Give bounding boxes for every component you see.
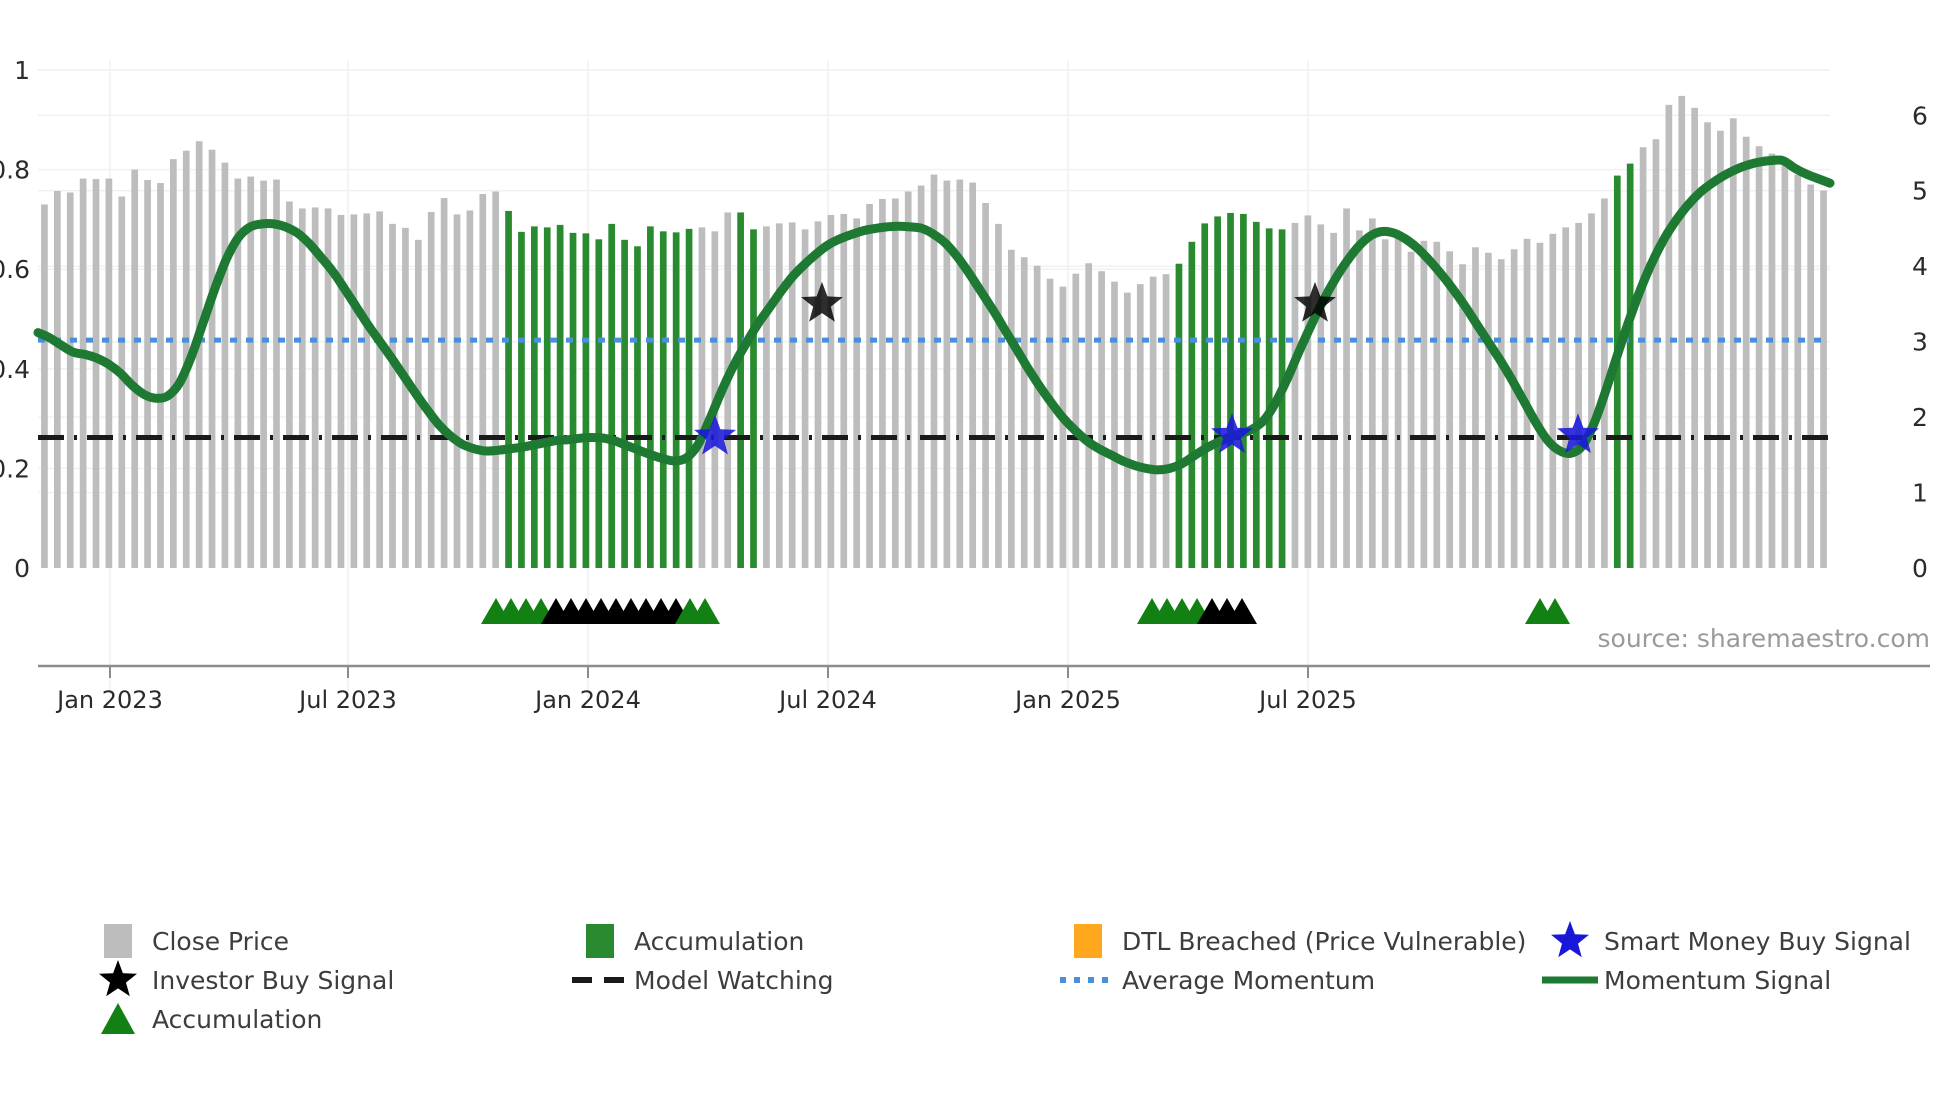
close-price-bar (1292, 223, 1299, 568)
close-price-bar (41, 204, 48, 568)
close-price-bar (402, 228, 409, 568)
x-axis-label: Jan 2025 (1013, 686, 1121, 714)
close-price-bar (1730, 118, 1737, 568)
accumulation-bar (1627, 164, 1634, 568)
chart-root: Jan 2023Jul 2023Jan 2024Jul 2024Jan 2025… (0, 0, 1960, 1102)
close-price-bar (1743, 137, 1750, 568)
legend-swatch-square (104, 924, 132, 958)
right-axis-label: 2 (1912, 403, 1928, 432)
accumulation-bar (557, 225, 564, 568)
legend-item-label: Average Momentum (1122, 966, 1375, 995)
close-price-bar (351, 214, 358, 568)
legend: Close PriceAccumulationDTL Breached (Pri… (99, 921, 1911, 1034)
bars-layer (41, 96, 1827, 568)
close-price-bar (892, 198, 899, 568)
close-price-bar (1472, 247, 1479, 568)
accumulation-bar (518, 232, 525, 568)
accumulation-bar (660, 231, 667, 568)
close-price-bar (1356, 230, 1363, 568)
legend-item-label: Accumulation (152, 1005, 322, 1034)
close-price-bar (144, 180, 151, 568)
close-price-bar (338, 215, 345, 568)
x-axis-label: Jul 2024 (777, 686, 877, 714)
accumulation-bar (621, 240, 628, 568)
close-price-bar (376, 211, 383, 568)
close-price-bar (492, 192, 499, 568)
legend-smart-money[interactable]: Smart Money Buy Signal (1551, 921, 1911, 957)
close-price-bar (1408, 252, 1415, 568)
close-price-bar (969, 183, 976, 568)
close-price-bar (260, 181, 267, 568)
momentum-accumulation-chart: Jan 2023Jul 2023Jan 2024Jul 2024Jan 2025… (0, 0, 1960, 1102)
close-price-bar (1395, 233, 1402, 568)
close-price-bar (1317, 224, 1324, 568)
close-price-bar (1137, 284, 1144, 568)
close-price-bar (247, 177, 254, 568)
close-price-bar (299, 208, 306, 568)
close-price-bar (918, 186, 925, 568)
legend-close-price[interactable]: Close Price (104, 924, 289, 958)
accumulation-bar (595, 239, 602, 568)
close-price-bar (879, 199, 886, 568)
close-price-bar (157, 183, 164, 568)
source-label: source: sharemaestro.com (1598, 624, 1931, 653)
close-price-bar (67, 193, 74, 568)
left-axis-label: 1 (14, 56, 30, 85)
left-axis-label: 0.2 (0, 454, 30, 483)
legend-accumulation-triangle[interactable]: Accumulation (101, 1003, 322, 1034)
close-price-bar (1562, 227, 1569, 568)
close-price-bar (1369, 218, 1376, 568)
close-price-bar (286, 201, 293, 568)
close-price-bar (1072, 274, 1079, 568)
close-price-bar (995, 224, 1002, 568)
legend-swatch-square (1074, 924, 1102, 958)
close-price-bar (828, 215, 835, 568)
close-price-bar (1549, 234, 1556, 568)
accumulation-bar (583, 233, 590, 568)
accumulation-bar (608, 224, 615, 568)
close-price-bar (1794, 175, 1801, 568)
close-price-bar (699, 227, 706, 568)
close-price-bar (1111, 282, 1118, 568)
close-price-bar (1124, 293, 1131, 568)
accumulation-bar (570, 233, 577, 568)
close-price-bar (131, 170, 138, 568)
left-axis-label: 0.8 (0, 156, 30, 185)
close-price-bar (1575, 223, 1582, 568)
close-price-bar (454, 214, 461, 568)
close-price-bar (905, 192, 912, 568)
accumulation-bar (1201, 223, 1208, 568)
close-price-bar (467, 210, 474, 568)
close-price-bar (1653, 139, 1660, 568)
close-price-bar (1588, 213, 1595, 568)
close-price-bar (1640, 147, 1647, 568)
legend-item-label: DTL Breached (Price Vulnerable) (1122, 927, 1526, 956)
right-axis-label: 1 (1912, 479, 1928, 508)
close-price-bar (1060, 287, 1067, 568)
x-axis-label: Jul 2025 (1257, 686, 1357, 714)
close-price-bar (1820, 191, 1827, 568)
close-price-bar (1756, 146, 1763, 568)
close-price-bar (1678, 96, 1685, 568)
close-price-bar (1382, 239, 1389, 568)
close-price-bar (853, 218, 860, 568)
close-price-bar (763, 226, 770, 568)
legend-item-label: Smart Money Buy Signal (1604, 927, 1911, 956)
accumulation-bar (750, 229, 757, 568)
close-price-bar (1433, 242, 1440, 568)
close-price-bar (1446, 251, 1453, 568)
legend-swatch-star (1551, 921, 1589, 957)
close-price-bar (956, 180, 963, 568)
close-price-bar (802, 229, 809, 568)
close-price-bar (840, 214, 847, 568)
left-axis-label: 0.4 (0, 355, 30, 384)
legend-swatch-triangle (101, 1003, 135, 1034)
accumulation-bar (686, 229, 693, 568)
close-price-bar (1666, 105, 1673, 568)
legend-item-label: Momentum Signal (1604, 966, 1831, 995)
close-price-bar (866, 204, 873, 568)
accumulation-bar (647, 226, 654, 568)
legend-model-watching[interactable]: Model Watching (572, 966, 834, 995)
close-price-bar (389, 224, 396, 568)
close-price-bar (1717, 131, 1724, 568)
right-axis-label: 0 (1912, 554, 1928, 583)
right-axis-label: 6 (1912, 101, 1928, 130)
close-price-bar (982, 203, 989, 568)
close-price-bar (479, 194, 486, 568)
right-axis-label: 4 (1912, 252, 1928, 281)
legend-item-label: Model Watching (634, 966, 834, 995)
close-price-bar (1305, 215, 1312, 568)
left-axis-label: 0 (14, 554, 30, 583)
accumulation-bar (673, 232, 680, 568)
legend-item-label: Accumulation (634, 927, 804, 956)
close-price-bar (1485, 253, 1492, 568)
accumulation-bar (1227, 213, 1234, 568)
x-axis-label: Jan 2024 (533, 686, 641, 714)
legend-accumulation-bar[interactable]: Accumulation (586, 924, 804, 958)
close-price-bar (1511, 249, 1518, 568)
left-axis-label: 0.6 (0, 255, 30, 284)
close-price-bar (1085, 263, 1092, 568)
close-price-bar (776, 223, 783, 568)
close-price-bar (1021, 257, 1028, 568)
accumulation-bar (1214, 216, 1221, 568)
close-price-bar (1150, 277, 1157, 568)
close-price-bar (441, 198, 448, 568)
close-price-bar (1034, 266, 1041, 568)
close-price-bar (1421, 241, 1428, 568)
close-price-bar (222, 163, 229, 568)
close-price-bar (1807, 185, 1814, 568)
close-price-bar (209, 150, 216, 568)
accumulation-bar (737, 212, 744, 568)
close-price-bar (170, 159, 177, 568)
close-price-bar (1537, 243, 1544, 568)
legend-investor-buy[interactable]: Investor Buy Signal (99, 960, 394, 996)
x-axis-label: Jul 2023 (297, 686, 397, 714)
close-price-bar (815, 221, 822, 568)
close-price-bar (428, 212, 435, 568)
legend-swatch-square (586, 924, 614, 958)
right-axis-label: 3 (1912, 328, 1928, 357)
legend-dtl-breached[interactable]: DTL Breached (Price Vulnerable) (1074, 924, 1526, 958)
close-price-bar (54, 191, 61, 568)
close-price-bar (80, 179, 87, 568)
close-price-bar (106, 179, 113, 568)
accumulation-bar (505, 211, 512, 568)
x-axis-label: Jan 2023 (55, 686, 163, 714)
close-price-bar (1498, 259, 1505, 568)
legend-swatch-star (99, 960, 137, 996)
close-price-bar (1163, 274, 1170, 568)
close-price-bar (1098, 271, 1105, 568)
accumulation-bar (544, 227, 551, 568)
close-price-bar (312, 207, 319, 568)
accumulation-bar (531, 226, 538, 568)
close-price-bar (363, 213, 370, 568)
accumulation-bar (1188, 242, 1195, 568)
right-axis-label: 5 (1912, 177, 1928, 206)
close-price-bar (1782, 165, 1789, 568)
close-price-bar (93, 179, 100, 568)
accumulation-bar (1266, 228, 1273, 568)
legend-average-momentum[interactable]: Average Momentum (1060, 966, 1375, 995)
close-price-bar (1008, 250, 1015, 568)
legend-momentum-signal[interactable]: Momentum Signal (1542, 966, 1831, 995)
legend-item-label: Close Price (152, 927, 289, 956)
close-price-bar (1047, 279, 1054, 568)
close-price-bar (1769, 154, 1776, 568)
accumulation-bar (634, 246, 641, 568)
accumulation-bar (1240, 214, 1247, 568)
close-price-bar (273, 180, 280, 568)
accumulation-bar (1176, 264, 1183, 568)
accumulation-bar (1253, 222, 1260, 568)
legend-item-label: Investor Buy Signal (152, 966, 394, 995)
